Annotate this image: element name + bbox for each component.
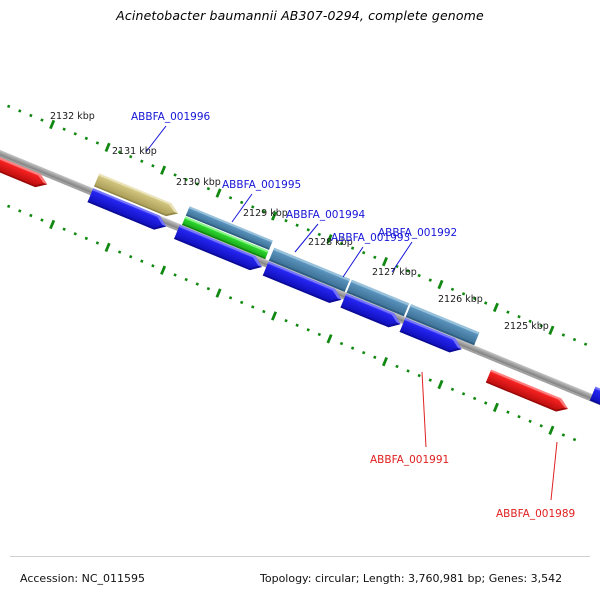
genome-stats-text: Topology: circular; Length: 3,760,981 bp… [260, 572, 562, 585]
tick-label-2132: 2132 kbp [50, 111, 95, 122]
leader-001989 [551, 442, 557, 500]
leader-001991 [422, 372, 426, 447]
tick-label-2125: 2125 kbp [504, 321, 549, 332]
gene-label-ABBFA_001989[interactable]: ABBFA_001989 [496, 508, 575, 520]
footer-divider [10, 556, 590, 557]
tick-label-2127: 2127 kbp [372, 267, 417, 278]
tick-label-2130: 2130 kbp [176, 177, 221, 188]
accession-text: Accession: NC_011595 [20, 572, 145, 585]
genome-map-viewer: Acinetobacter baumannii AB307-0294, comp… [0, 0, 600, 600]
gene-blue-right[interactable] [590, 387, 600, 418]
tick-label-2126: 2126 kbp [438, 294, 483, 305]
gene-label-ABBFA_001991[interactable]: ABBFA_001991 [370, 454, 449, 466]
gene-red-001991[interactable] [486, 370, 571, 416]
tick-scale-marks-lower [6, 202, 578, 445]
tick-scale-marks [6, 102, 589, 349]
gene-label-ABBFA_001996[interactable]: ABBFA_001996 [131, 111, 210, 123]
gene-label-ABBFA_001995[interactable]: ABBFA_001995 [222, 179, 301, 191]
gene-label-ABBFA_001994[interactable]: ABBFA_001994 [286, 209, 365, 221]
tick-label-2131: 2131 kbp [112, 146, 157, 157]
leader-001993 [343, 247, 363, 277]
tick-label-2129: 2129 kbp [243, 208, 288, 219]
gene-label-ABBFA_001992[interactable]: ABBFA_001992 [378, 227, 457, 239]
